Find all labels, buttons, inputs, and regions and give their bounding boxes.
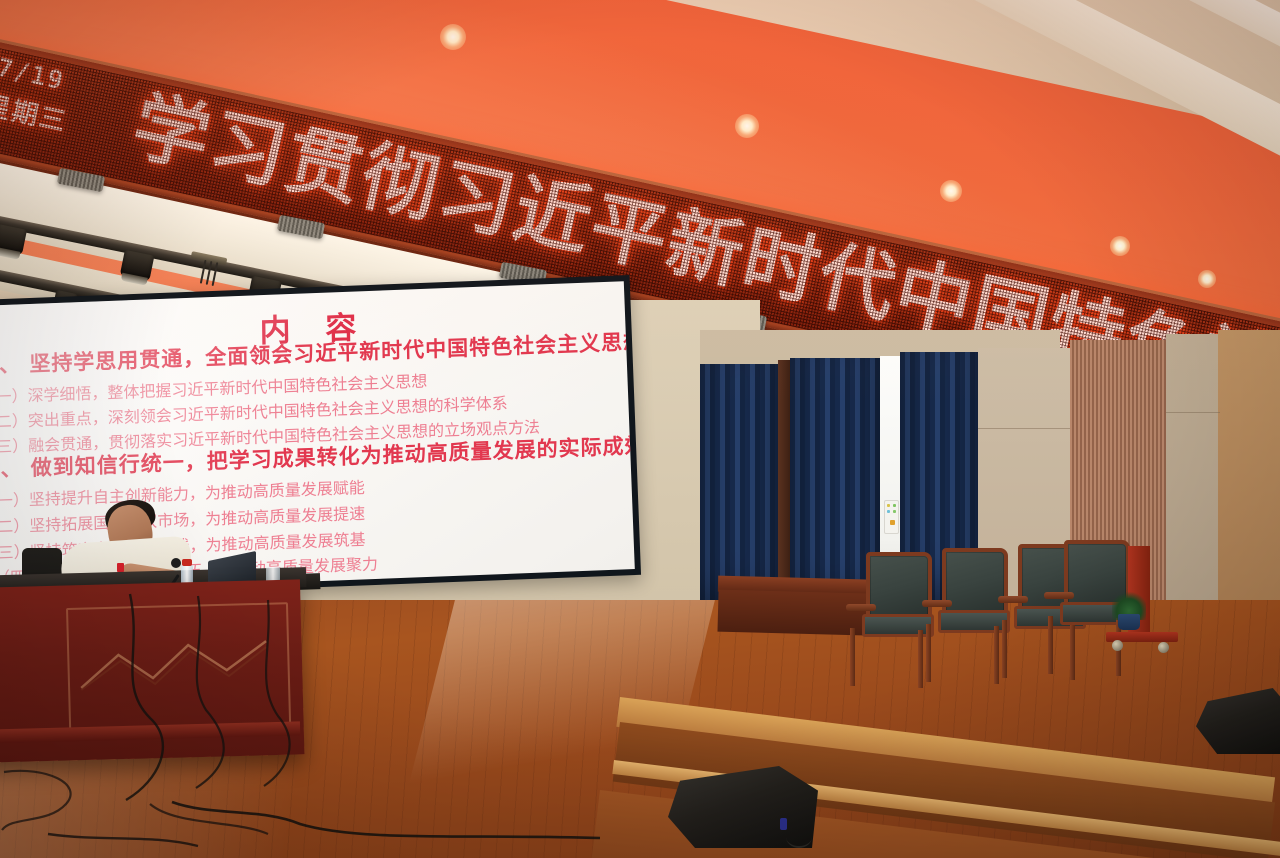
chair-armrest (1044, 592, 1074, 599)
downlight-icon (1110, 236, 1130, 256)
plant-pot (1118, 614, 1140, 630)
wall-panel-right (1166, 334, 1218, 634)
panel-seam (978, 428, 1070, 429)
microphone-icon (171, 558, 181, 568)
chair-leg (1002, 620, 1007, 678)
downlight-icon (940, 180, 962, 202)
slide-section-2-number: 二、 (0, 456, 23, 482)
party-emblem-pin (117, 563, 124, 572)
caster-wheel-icon (1112, 640, 1123, 651)
chair-back (866, 552, 932, 622)
chair-leg (850, 628, 855, 686)
caster-wheel-icon (1158, 642, 1169, 653)
chair-seat (862, 614, 934, 637)
bottle-cap (182, 559, 192, 566)
downlight-icon (1198, 270, 1216, 288)
chair-leg (918, 630, 923, 688)
chair-seat (938, 610, 1010, 633)
slide-section-1-number: 一、 (0, 352, 21, 378)
chair-armrest (998, 596, 1028, 603)
speaker-cable (786, 826, 812, 848)
chair-leg (1048, 616, 1053, 674)
chair-armrest (846, 604, 876, 611)
chair-back (942, 548, 1008, 618)
panel-seam (1166, 412, 1220, 413)
chair-leg (1070, 622, 1075, 680)
meeting-hall-photo: 8/07/19 :53星期三 学习贯彻习近平新时代中国特色社会主义思想主题教育专… (0, 0, 1280, 858)
wall-control-panel[interactable] (884, 500, 899, 534)
chair-armrest (922, 600, 952, 607)
wall-panel-far-right (1218, 330, 1280, 636)
slide-section-1-text: 坚持学思用贯通，全面领会习近平新时代中国特色社会主义思想 (29, 330, 635, 377)
downlight-icon (440, 24, 466, 50)
floor-cables (0, 590, 620, 858)
chair-leg (926, 624, 931, 682)
chair-leg (994, 626, 999, 684)
downlight-icon (735, 114, 759, 138)
